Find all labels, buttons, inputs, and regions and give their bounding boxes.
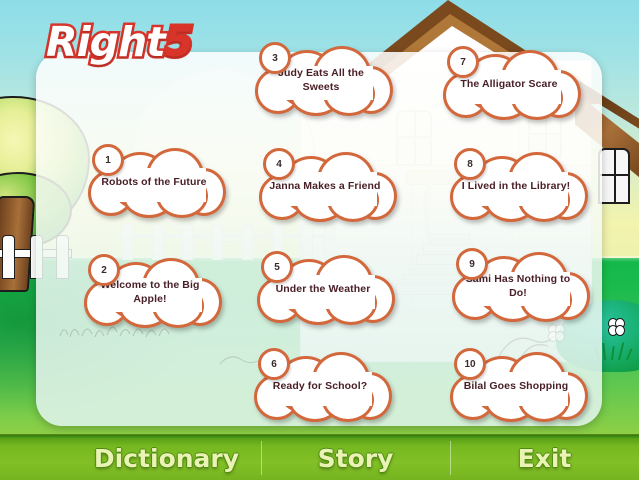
- story-button-10[interactable]: 10 Bilal Goes Shopping: [450, 352, 582, 418]
- grass-blades: [596, 340, 636, 360]
- story-number-badge: 7: [447, 46, 479, 78]
- story-button-2[interactable]: 2 Welcome to the Big Apple!: [84, 258, 216, 324]
- exit-button[interactable]: Exit: [450, 435, 639, 480]
- story-number-badge: 3: [259, 42, 291, 74]
- story-button-3[interactable]: 3 Judy Eats All the Sweets: [255, 46, 387, 112]
- toolbar-left-spacer: [0, 435, 72, 480]
- story-number-badge: 2: [88, 254, 120, 286]
- story-number-badge: 9: [456, 248, 488, 280]
- story-button-8[interactable]: 8 I Lived in the Library!: [450, 152, 582, 218]
- story-button-7[interactable]: 7 The Alligator Scare: [443, 50, 575, 116]
- story-button-5[interactable]: 5 Under the Weather: [257, 255, 389, 321]
- story-number-badge: 8: [454, 148, 486, 180]
- house-window-right: [598, 148, 630, 204]
- page-title: Right5: [46, 18, 192, 66]
- story-number-badge: 1: [92, 144, 124, 176]
- story-button-9[interactable]: 9 Sami Has Nothing to Do!: [452, 252, 584, 318]
- flower-doodle-icon: [548, 324, 564, 340]
- story-number-badge: 6: [258, 348, 290, 380]
- story-number-badge: 4: [263, 148, 295, 180]
- flower-icon: [608, 318, 624, 334]
- story-number-badge: 10: [454, 348, 486, 380]
- title-number: 5: [165, 18, 193, 66]
- bottom-toolbar: Dictionary Story Exit: [0, 434, 639, 480]
- story-number-badge: 5: [261, 251, 293, 283]
- story-button[interactable]: Story: [261, 435, 450, 480]
- dictionary-button[interactable]: Dictionary: [72, 435, 261, 480]
- story-button-1[interactable]: 1 Robots of the Future: [88, 148, 220, 214]
- title-word: Right: [46, 18, 165, 66]
- game-screen: Right5 1 Robots of the Future 2 Welc: [0, 0, 639, 480]
- story-button-4[interactable]: 4 Janna Makes a Friend: [259, 152, 391, 218]
- story-button-6[interactable]: 6 Ready for School?: [254, 352, 386, 418]
